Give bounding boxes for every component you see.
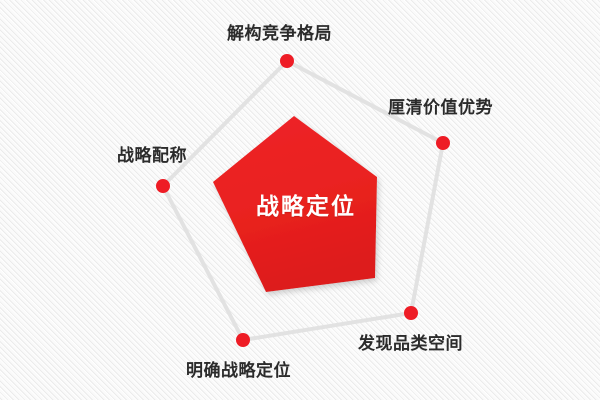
center-pentagon-label: 战略定位: [256, 196, 356, 219]
node-dot-top[interactable]: [280, 54, 294, 68]
node-label-bottom: 明确战略定位: [186, 363, 291, 380]
node-dot-upper-right[interactable]: [436, 136, 450, 150]
diagram-canvas: 解构竞争格局 厘清价值优势 发现品类空间 明确战略定位 战略配称 战略定位: [0, 0, 600, 400]
node-dot-lower-right[interactable]: [404, 306, 418, 320]
node-dot-left[interactable]: [156, 179, 170, 193]
node-label-left: 战略配称: [117, 148, 187, 165]
node-dot-bottom[interactable]: [236, 333, 250, 347]
node-label-top: 解构竞争格局: [227, 26, 332, 43]
node-label-lower-right: 发现品类空间: [358, 336, 463, 353]
node-label-upper-right: 厘清价值优势: [388, 100, 493, 117]
